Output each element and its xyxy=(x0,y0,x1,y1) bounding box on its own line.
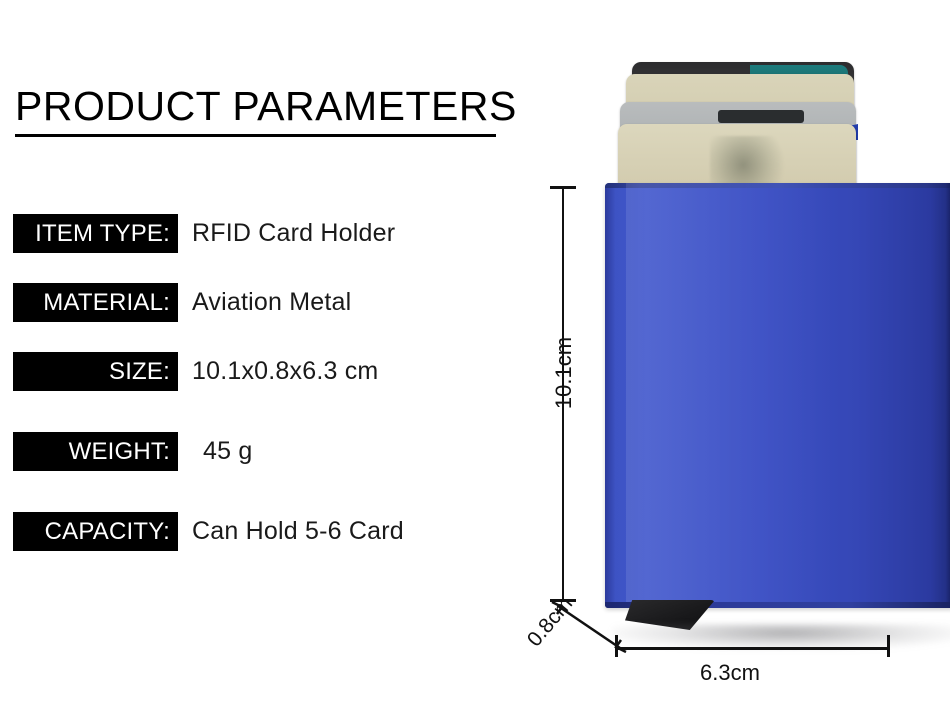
spec-label-weight: WEIGHT: xyxy=(13,432,178,471)
spec-label-item-type: ITEM TYPE: xyxy=(13,214,178,253)
spec-value-weight: 45 g xyxy=(203,432,252,471)
dimension-tick-right xyxy=(887,635,890,657)
spec-row-size: SIZE: 10.1x0.8x6.3 cm xyxy=(0,352,520,391)
dimension-line-width xyxy=(615,647,890,650)
page-title: PRODUCT PARAMETERS xyxy=(15,86,515,127)
title-block: PRODUCT PARAMETERS xyxy=(15,86,515,137)
dimension-label-height: 10.1cm xyxy=(551,337,577,409)
spec-label-material: MATERIAL: xyxy=(13,283,178,322)
spec-value-material: Aviation Metal xyxy=(192,283,351,322)
spec-list: ITEM TYPE: RFID Card Holder MATERIAL: Av… xyxy=(0,214,520,581)
spec-row-weight: WEIGHT: 45 g xyxy=(0,432,520,471)
case-right-bevel xyxy=(946,183,950,608)
spec-label-capacity: CAPACITY: xyxy=(13,512,178,551)
spec-label-size: SIZE: xyxy=(13,352,178,391)
aluminium-case-body xyxy=(605,183,950,608)
spec-value-item-type: RFID Card Holder xyxy=(192,214,395,253)
product-parameters-page: PRODUCT PARAMETERS ITEM TYPE: RFID Card … xyxy=(0,0,950,708)
case-highlight-sheen xyxy=(626,183,836,608)
spec-value-size: 10.1x0.8x6.3 cm xyxy=(192,352,378,391)
spec-row-material: MATERIAL: Aviation Metal xyxy=(0,283,520,322)
spec-row-capacity: CAPACITY: Can Hold 5-6 Card xyxy=(0,512,520,551)
dimension-tick-left xyxy=(615,635,618,657)
card-magnetic-stripe xyxy=(718,110,804,123)
dimension-label-width: 6.3cm xyxy=(700,660,760,686)
product-figure: 半票 Pay 银联 10.1cm xyxy=(540,40,950,708)
title-underline-divider xyxy=(15,134,496,137)
spec-value-capacity: Can Hold 5-6 Card xyxy=(192,512,404,551)
spec-row-item-type: ITEM TYPE: RFID Card Holder xyxy=(0,214,520,253)
